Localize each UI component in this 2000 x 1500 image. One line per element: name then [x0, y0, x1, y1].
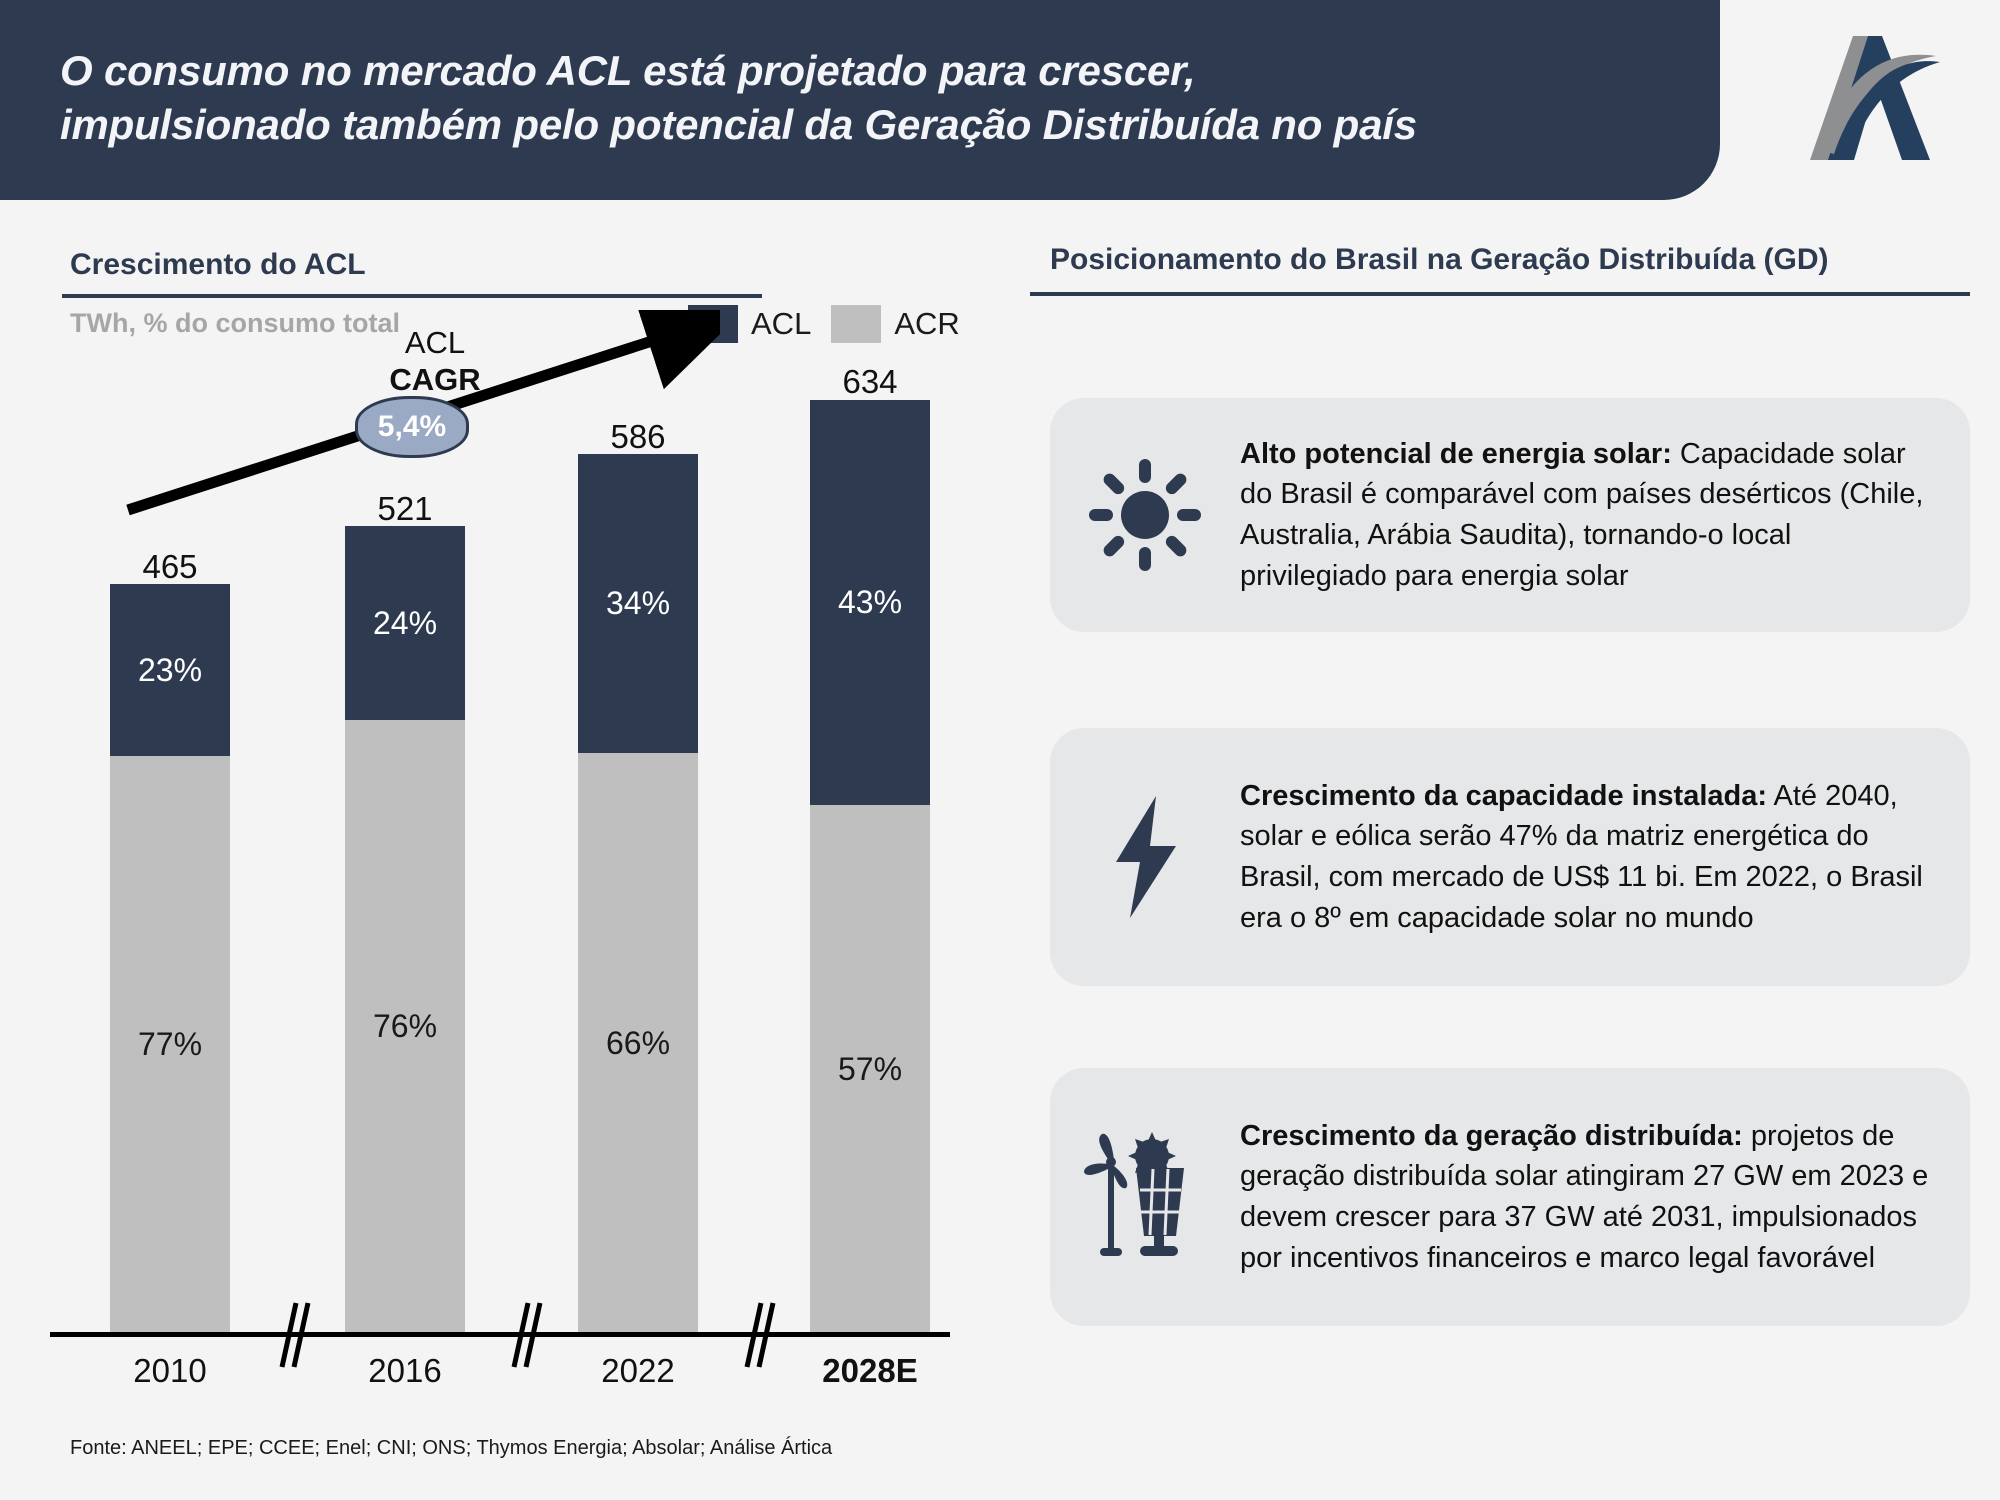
axis-break-icon-3 [733, 1297, 779, 1373]
cagr-label: ACL CAGR [355, 325, 515, 398]
insight-card-distributed-generation[interactable]: Crescimento da geração distribuída: proj… [1050, 1068, 1970, 1326]
bar-segment-acr-2010: 77% [110, 756, 230, 1333]
cagr-label-line2: CAGR [355, 362, 515, 399]
axis-break-icon-1 [268, 1297, 314, 1373]
bar-column-2016[interactable]: 24% 76% [345, 526, 465, 1333]
insight-card-capacity[interactable]: Crescimento da capacidade instalada: Até… [1050, 728, 1970, 986]
insight-card-solar-bold: Alto potencial de energia solar: [1240, 438, 1672, 470]
wind-solar-icon [1050, 1132, 1240, 1262]
bar-total-2028e: 634 [760, 363, 980, 401]
bar-segment-label-acl-2016: 24% [373, 605, 437, 642]
bar-segment-label-acr-2010: 77% [138, 1026, 202, 1063]
bar-segment-acl-2022: 34% [578, 454, 698, 753]
bar-segment-label-acr-2022: 66% [606, 1025, 670, 1062]
axis-break-icon-2 [500, 1297, 546, 1373]
bar-segment-acr-2022: 66% [578, 753, 698, 1333]
insights-section-title: Posicionamento do Brasil na Geração Dist… [1050, 243, 1829, 277]
axis-label-2016: 2016 [295, 1352, 515, 1390]
bar-total-2010: 465 [60, 548, 280, 586]
bar-column-2022[interactable]: 34% 66% [578, 454, 698, 1333]
bar-column-2010[interactable]: 23% 77% [110, 584, 230, 1333]
bar-segment-label-acr-2028e: 57% [838, 1051, 902, 1088]
insights-panel: Posicionamento do Brasil na Geração Dist… [1030, 0, 2000, 1500]
bar-segment-label-acl-2010: 23% [138, 652, 202, 689]
bar-segment-acl-2016: 24% [345, 526, 465, 720]
insight-card-dg-bold: Crescimento da geração distribuída: [1240, 1120, 1743, 1152]
insight-card-dg-text: Crescimento da geração distribuída: proj… [1240, 1116, 1970, 1278]
bar-segment-label-acl-2028e: 43% [838, 584, 902, 621]
cagr-label-line1: ACL [405, 325, 465, 360]
insight-card-solar[interactable]: Alto potencial de energia solar: Capacid… [1050, 398, 1970, 632]
insight-card-solar-text: Alto potencial de energia solar: Capacid… [1240, 434, 1970, 596]
sun-icon [1050, 455, 1240, 575]
bar-segment-acr-2016: 76% [345, 720, 465, 1333]
insight-card-capacity-text: Crescimento da capacidade instalada: Até… [1240, 776, 1970, 938]
insights-title-rule [1030, 292, 1970, 296]
cagr-value: 5,4% [378, 410, 446, 444]
lightning-bolt-icon [1050, 792, 1240, 922]
bar-total-2016: 521 [295, 490, 515, 528]
bar-segment-acr-2028e: 57% [810, 805, 930, 1333]
bar-segment-label-acl-2022: 34% [606, 585, 670, 622]
stacked-bar-chart: ACL CAGR 5,4% 465 23% 77% 2010 521 24% 7… [0, 0, 1000, 1500]
axis-label-2028e: 2028E [760, 1352, 980, 1390]
bar-segment-acl-2010: 23% [110, 584, 230, 756]
axis-label-2022: 2022 [528, 1352, 748, 1390]
source-note: Fonte: ANEEL; EPE; CCEE; Enel; CNI; ONS;… [70, 1437, 832, 1460]
insight-card-capacity-bold: Crescimento da capacidade instalada: [1240, 780, 1767, 812]
bar-total-2022: 586 [528, 418, 748, 456]
bar-column-2028e[interactable]: 43% 57% [810, 400, 930, 1333]
bar-segment-label-acr-2016: 76% [373, 1008, 437, 1045]
axis-label-2010: 2010 [60, 1352, 280, 1390]
bar-segment-acl-2028e: 43% [810, 400, 930, 805]
cagr-value-badge: 5,4% [355, 396, 469, 458]
